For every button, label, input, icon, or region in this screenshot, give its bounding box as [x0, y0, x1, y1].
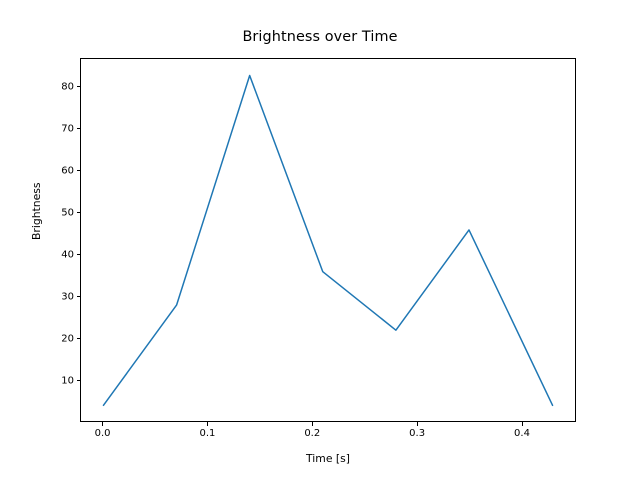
x-tick-mark — [102, 422, 103, 426]
x-tick-label: 0.0 — [95, 428, 111, 439]
chart-title: Brightness over Time — [0, 29, 640, 45]
plot-area — [81, 59, 575, 422]
y-tick-label: 60 — [38, 165, 74, 176]
x-tick-mark — [312, 422, 313, 426]
y-tick-mark — [77, 170, 81, 171]
y-tick-label: 50 — [38, 207, 74, 218]
y-tick-label: 30 — [38, 291, 74, 302]
y-tick-label: 70 — [38, 123, 74, 134]
y-tick-label: 10 — [38, 375, 74, 386]
y-tick-mark — [77, 380, 81, 381]
plot-axes — [80, 58, 576, 423]
x-tick-mark — [207, 422, 208, 426]
y-tick-mark — [77, 128, 81, 129]
x-tick-label: 0.4 — [514, 428, 530, 439]
y-axis-label: Brightness — [30, 182, 43, 240]
y-tick-mark — [77, 86, 81, 87]
y-tick-mark — [77, 254, 81, 255]
y-tick-label: 80 — [38, 81, 74, 92]
x-axis-label: Time [s] — [80, 452, 576, 465]
y-tick-mark — [77, 338, 81, 339]
x-tick-label: 0.2 — [304, 428, 320, 439]
x-tick-label: 0.1 — [199, 428, 215, 439]
brightness-line — [103, 75, 552, 405]
y-tick-mark — [77, 296, 81, 297]
y-tick-label: 40 — [38, 249, 74, 260]
x-tick-label: 0.3 — [409, 428, 425, 439]
y-tick-mark — [77, 212, 81, 213]
x-tick-mark — [417, 422, 418, 426]
x-tick-mark — [522, 422, 523, 426]
chart-figure: Brightness over Time 0.00.10.20.30.4 102… — [0, 0, 640, 480]
y-tick-label: 20 — [38, 333, 74, 344]
